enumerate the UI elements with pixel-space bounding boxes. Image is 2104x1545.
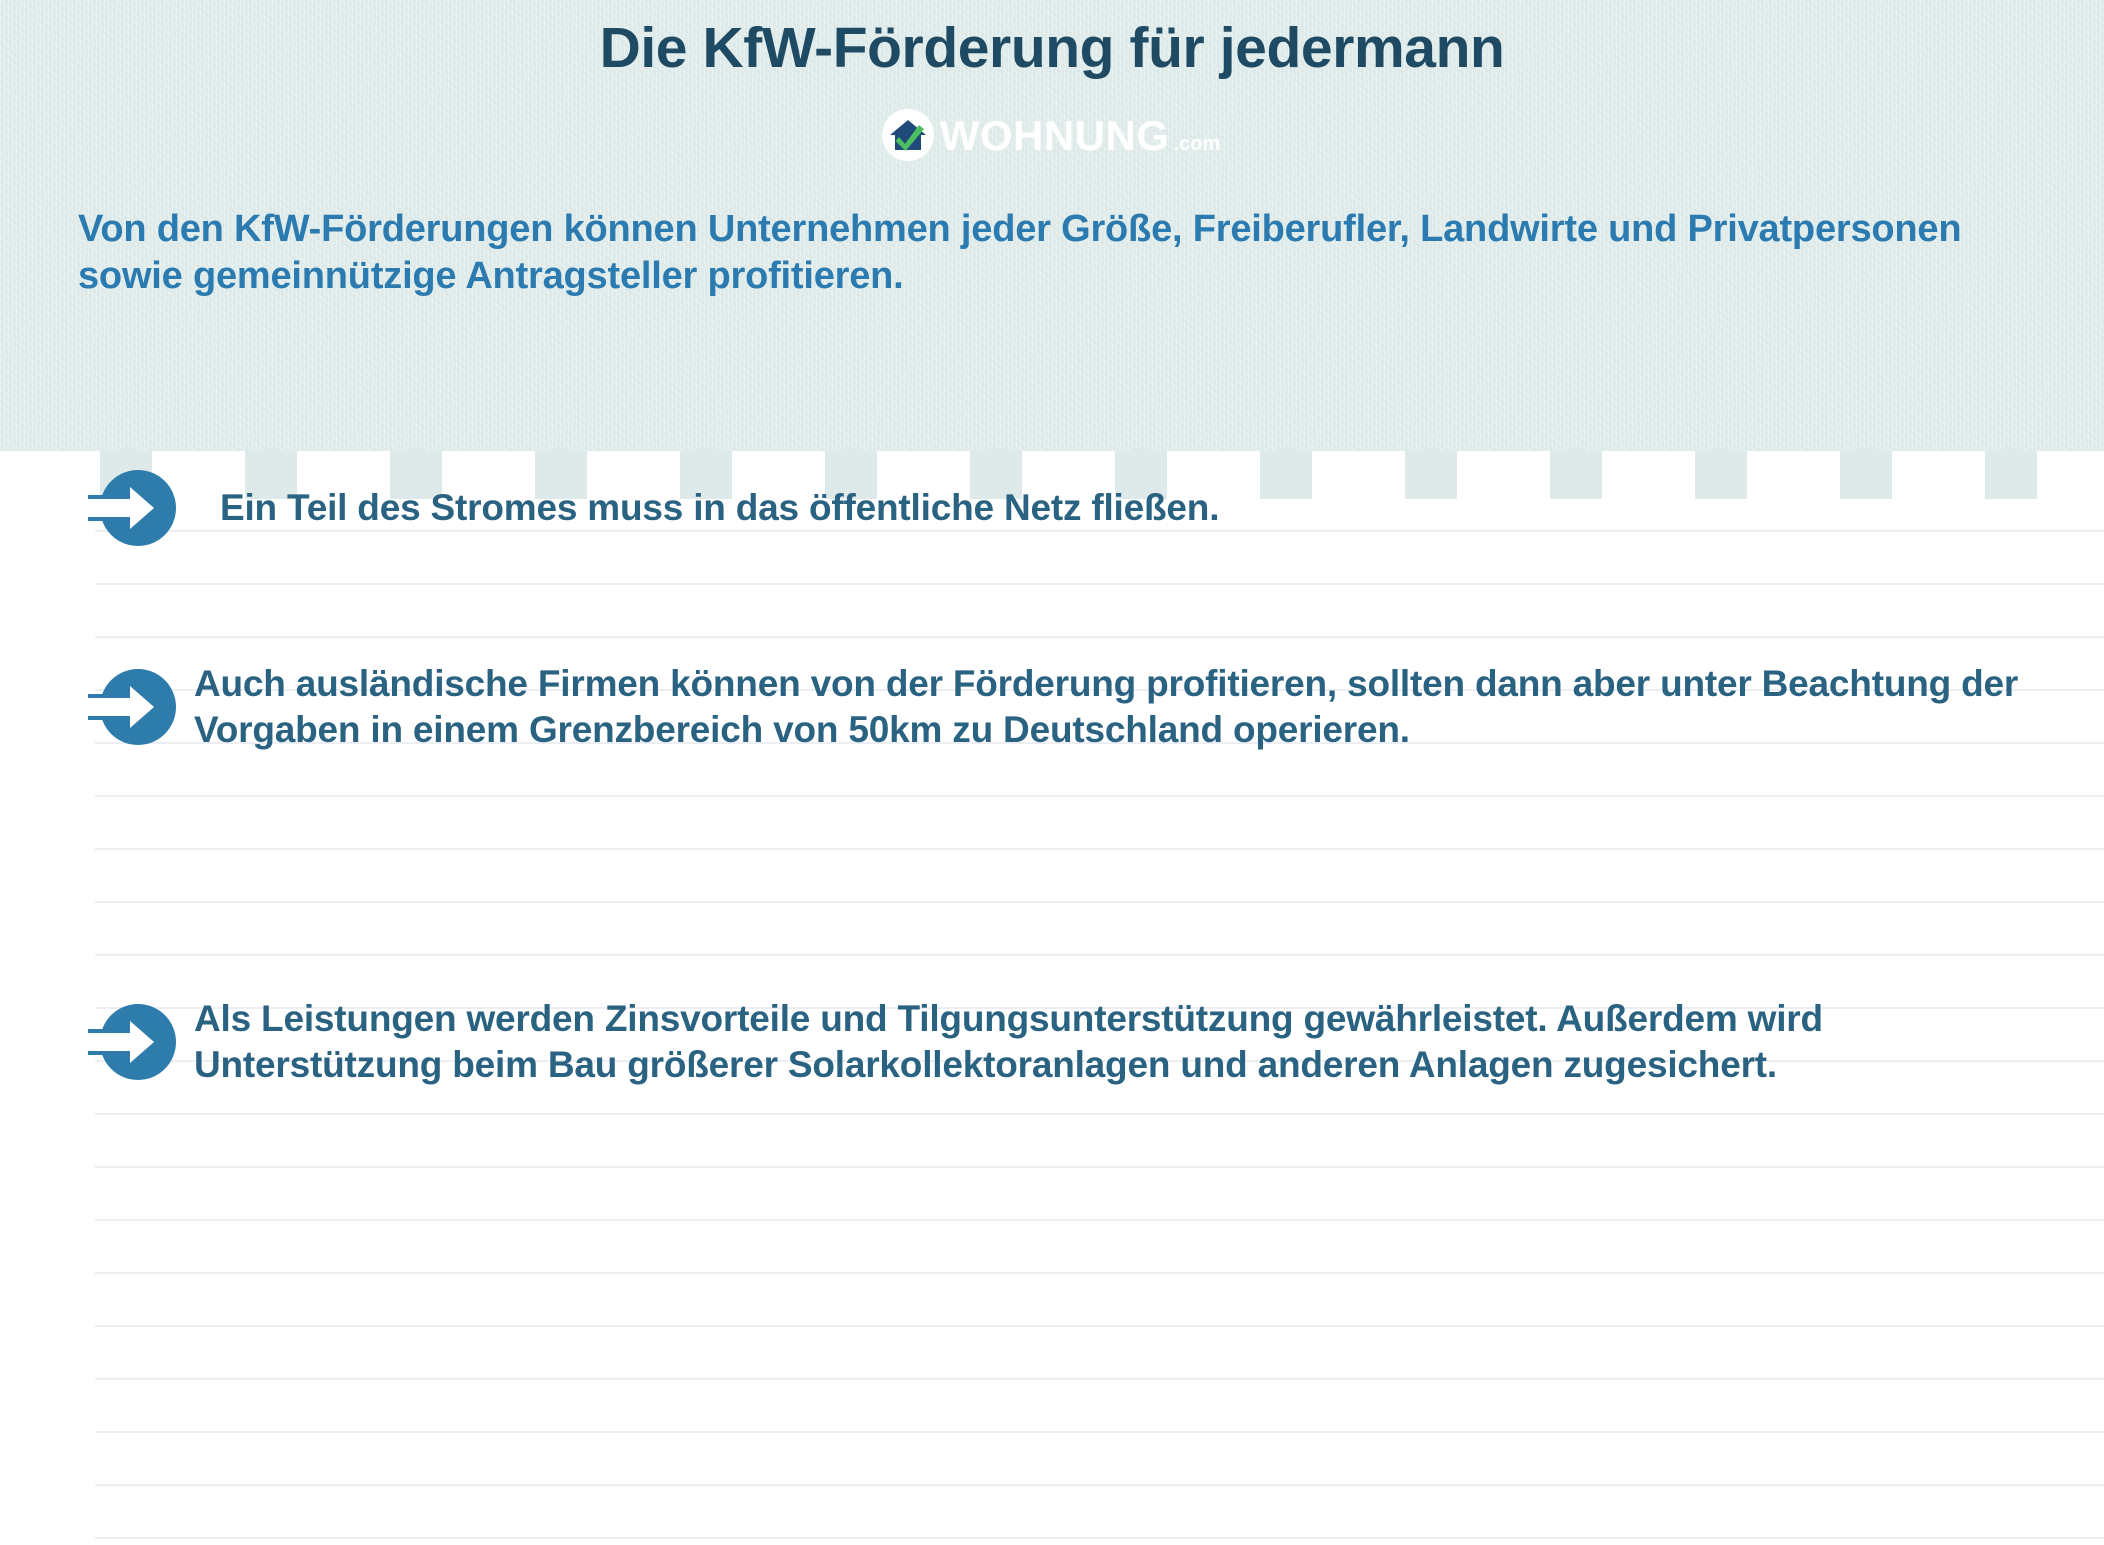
arrow-right-circle-icon xyxy=(80,469,184,547)
perforation-tab-neck xyxy=(2002,449,2020,464)
paper-rule xyxy=(95,954,2104,956)
perforation-tab-neck xyxy=(1567,449,1585,464)
header-subtitle: Von den KfW-Förderungen können Unternehm… xyxy=(78,206,2026,302)
perforation-tab-neck xyxy=(117,449,135,464)
paper-rule xyxy=(95,1484,2104,1486)
logo-wordmark: WOHNUNG xyxy=(940,115,1170,157)
paper-rule xyxy=(95,848,2104,850)
paper-rule xyxy=(95,583,2104,585)
page-title: Die KfW-Förderung für jedermann xyxy=(0,0,2104,82)
arrow-right-circle-icon xyxy=(80,668,184,746)
bullet-text: Auch ausländische Firmen können von der … xyxy=(184,661,2104,753)
arrow-right-circle-icon xyxy=(80,1003,184,1081)
paper-rule xyxy=(95,1537,2104,1539)
paper-rule xyxy=(95,1166,2104,1168)
perforation-tab-neck xyxy=(552,449,570,464)
perforation-tab-neck xyxy=(1422,449,1440,464)
perforation-tab-neck xyxy=(987,449,1005,464)
perforation-tab-neck xyxy=(842,449,860,464)
paper-rule xyxy=(95,795,2104,797)
paper-rule xyxy=(95,1272,2104,1274)
perforation-tab-neck xyxy=(697,449,715,464)
logo-tld: .com xyxy=(1174,134,1221,154)
paper-rule xyxy=(95,636,2104,638)
header-band: Die KfW-Förderung für jedermann WOHNUNG … xyxy=(0,0,2104,451)
paper-rule xyxy=(95,901,2104,903)
brand-logo[interactable]: WOHNUNG .com xyxy=(0,104,2104,166)
paper-rule xyxy=(95,1113,2104,1115)
paper-rule xyxy=(95,1219,2104,1221)
perforation-tab-neck xyxy=(1857,449,1875,464)
perforation-tab-neck xyxy=(262,449,280,464)
perforation-tab-neck xyxy=(407,449,425,464)
perforation-tab-neck xyxy=(1712,449,1730,464)
bullet-item: Als Leistungen werden Zinsvorteile und T… xyxy=(0,996,2104,1088)
bullet-item: Auch ausländische Firmen können von der … xyxy=(0,661,2104,753)
paper-rule xyxy=(95,1325,2104,1327)
perforation-tab-neck xyxy=(1132,449,1150,464)
bullet-text: Als Leistungen werden Zinsvorteile und T… xyxy=(184,996,2104,1088)
bullet-text: Ein Teil des Stromes muss in das öffentl… xyxy=(184,485,2104,531)
paper-rule xyxy=(95,1378,2104,1380)
paper-rule xyxy=(95,1431,2104,1433)
bullet-item: Ein Teil des Stromes muss in das öffentl… xyxy=(0,469,2104,547)
perforation-tab-neck xyxy=(1277,449,1295,464)
house-check-icon xyxy=(882,109,934,161)
